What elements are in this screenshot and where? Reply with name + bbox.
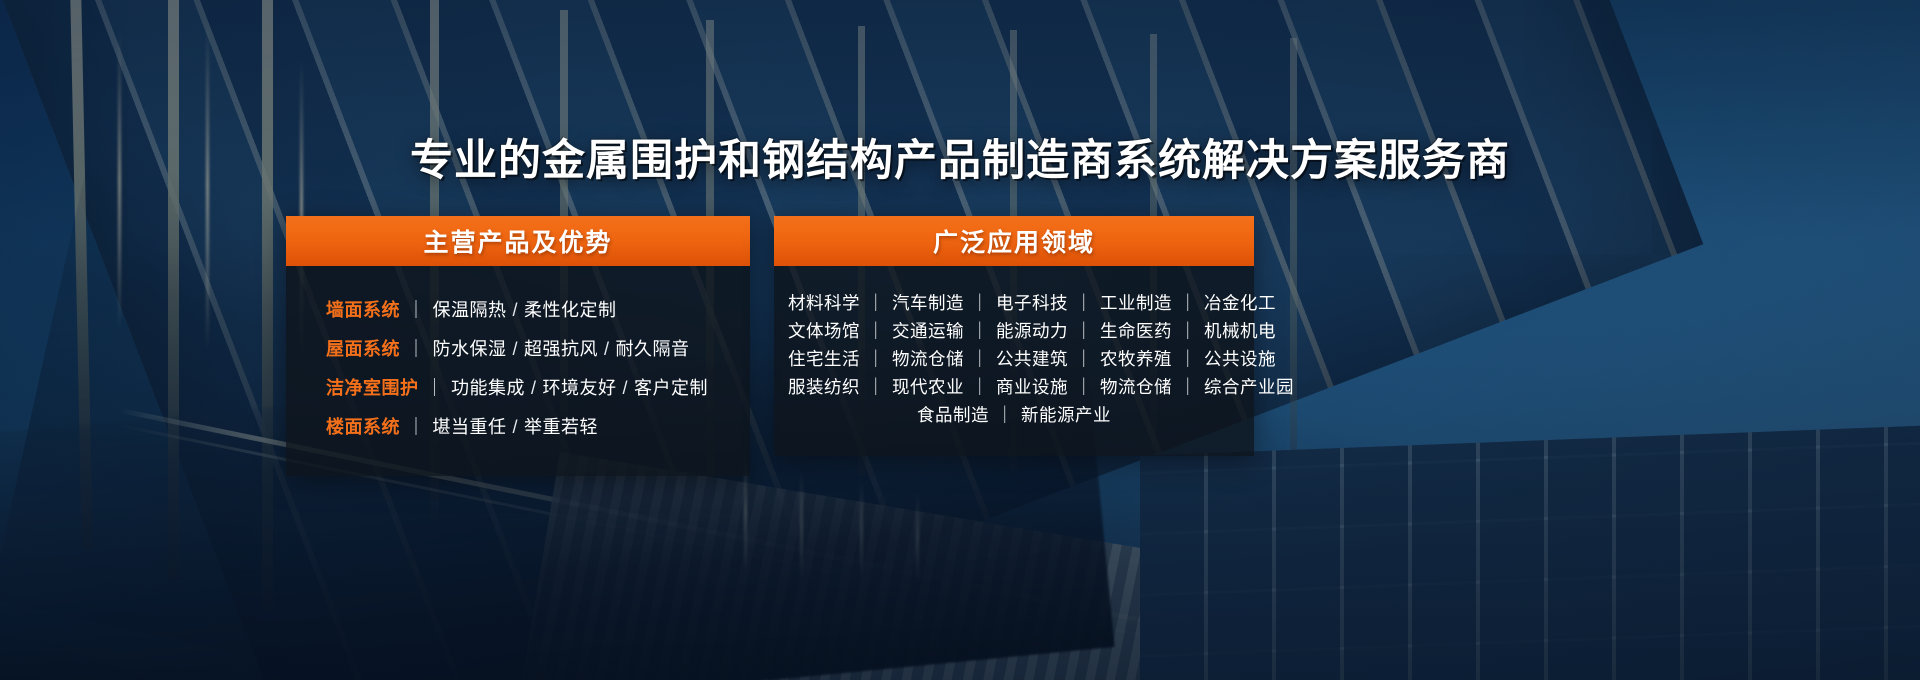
feature-divider: / [598,339,616,359]
product-feature: 环境友好 [543,378,617,398]
row-separator: ｜ [964,349,996,369]
feature-divider: / [617,378,635,398]
product-feature: 客户定制 [634,378,708,398]
row-separator: ｜ [860,321,892,341]
application-field: 物流仓储 [892,349,964,369]
application-row: 食品制造｜新能源产业 [788,402,1240,429]
row-separator: ｜ [964,377,996,397]
product-category: 墙面系统 [326,300,400,320]
hero-banner: 专业的金属围护和钢结构产品制造商系统解决方案服务商 主营产品及优势 墙面系统｜保… [0,0,1920,680]
product-row: 楼面系统｜堪当重任/举重若轻 [326,413,750,442]
application-field: 机械机电 [1204,321,1276,341]
row-separator: ｜ [400,339,433,359]
feature-divider: / [507,339,525,359]
row-separator: ｜ [860,293,892,313]
application-field: 服装纺织 [788,377,860,397]
application-field: 材料科学 [788,293,860,313]
row-separator: ｜ [1172,293,1204,313]
application-field: 工业制造 [1100,293,1172,313]
application-field: 汽车制造 [892,293,964,313]
product-row: 洁净室围护｜功能集成/环境友好/客户定制 [326,374,750,403]
row-separator: ｜ [400,300,433,320]
products-row-list: 墙面系统｜保温隔热/柔性化定制屋面系统｜防水保湿/超强抗风/耐久隔音洁净室围护｜… [326,296,750,442]
product-feature: 柔性化定制 [524,300,617,320]
banner-headline: 专业的金属围护和钢结构产品制造商系统解决方案服务商 [0,140,1920,183]
application-field: 商业设施 [996,377,1068,397]
row-separator: ｜ [964,293,996,313]
product-category: 洁净室围护 [326,378,419,398]
application-row: 服装纺织｜现代农业｜商业设施｜物流仓储｜综合产业园 [788,374,1240,401]
row-separator: ｜ [1172,377,1204,397]
product-category: 楼面系统 [326,417,400,437]
application-field: 综合产业园 [1204,377,1294,397]
application-field: 交通运输 [892,321,964,341]
products-panel-body: 墙面系统｜保温隔热/柔性化定制屋面系统｜防水保湿/超强抗风/耐久隔音洁净室围护｜… [286,266,750,476]
application-row: 住宅生活｜物流仓储｜公共建筑｜农牧养殖｜公共设施 [788,346,1240,373]
application-field: 生命医药 [1100,321,1172,341]
feature-divider: / [507,300,525,320]
product-feature: 防水保湿 [433,339,507,359]
application-field: 公共设施 [1204,349,1276,369]
info-panels: 主营产品及优势 墙面系统｜保温隔热/柔性化定制屋面系统｜防水保湿/超强抗风/耐久… [286,216,1254,476]
application-row: 材料科学｜汽车制造｜电子科技｜工业制造｜冶金化工 [788,290,1240,317]
product-category: 屋面系统 [326,339,400,359]
product-feature: 功能集成 [451,378,525,398]
row-separator: ｜ [1068,321,1100,341]
application-field: 新能源产业 [1021,405,1111,425]
products-panel: 主营产品及优势 墙面系统｜保温隔热/柔性化定制屋面系统｜防水保湿/超强抗风/耐久… [286,216,750,476]
row-separator: ｜ [989,405,1021,425]
product-row: 墙面系统｜保温隔热/柔性化定制 [326,296,750,325]
application-field: 冶金化工 [1204,293,1276,313]
application-field: 公共建筑 [996,349,1068,369]
row-separator: ｜ [1172,349,1204,369]
products-panel-title: 主营产品及优势 [286,216,750,266]
row-separator: ｜ [1068,377,1100,397]
application-field: 能源动力 [996,321,1068,341]
row-separator: ｜ [400,417,433,437]
row-separator: ｜ [419,378,452,398]
applications-panel-body: 材料科学｜汽车制造｜电子科技｜工业制造｜冶金化工文体场馆｜交通运输｜能源动力｜生… [774,266,1254,456]
row-separator: ｜ [1068,349,1100,369]
applications-panel: 广泛应用领域 材料科学｜汽车制造｜电子科技｜工业制造｜冶金化工文体场馆｜交通运输… [774,216,1254,456]
application-field: 电子科技 [996,293,1068,313]
row-separator: ｜ [860,377,892,397]
applications-panel-title: 广泛应用领域 [774,216,1254,266]
application-field: 现代农业 [892,377,964,397]
row-separator: ｜ [1172,321,1204,341]
application-field: 物流仓储 [1100,377,1172,397]
banner-content: 专业的金属围护和钢结构产品制造商系统解决方案服务商 主营产品及优势 墙面系统｜保… [0,0,1920,680]
application-row: 文体场馆｜交通运输｜能源动力｜生命医药｜机械机电 [788,318,1240,345]
applications-row-list: 材料科学｜汽车制造｜电子科技｜工业制造｜冶金化工文体场馆｜交通运输｜能源动力｜生… [788,290,1240,429]
product-row: 屋面系统｜防水保湿/超强抗风/耐久隔音 [326,335,750,364]
application-field: 文体场馆 [788,321,860,341]
row-separator: ｜ [1068,293,1100,313]
feature-divider: / [525,378,543,398]
product-feature: 保温隔热 [433,300,507,320]
application-field: 住宅生活 [788,349,860,369]
row-separator: ｜ [964,321,996,341]
product-feature: 举重若轻 [524,417,598,437]
row-separator: ｜ [860,349,892,369]
product-feature: 耐久隔音 [616,339,690,359]
feature-divider: / [507,417,525,437]
product-feature: 超强抗风 [524,339,598,359]
product-feature: 堪当重任 [433,417,507,437]
application-field: 农牧养殖 [1100,349,1172,369]
application-field: 食品制造 [917,405,989,425]
